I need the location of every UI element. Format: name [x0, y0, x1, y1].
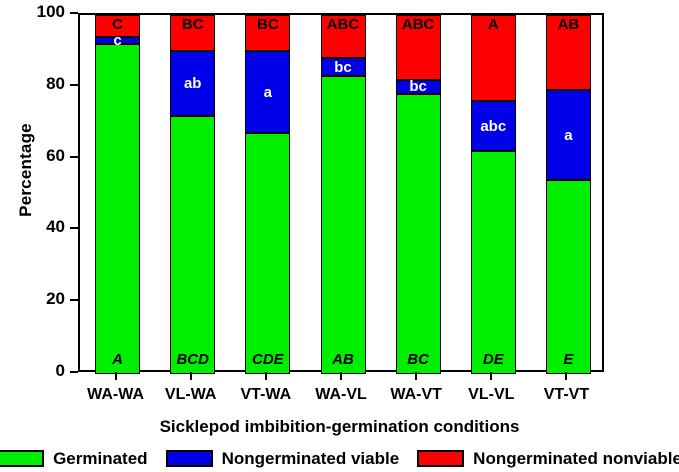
bar-vt-vt[interactable]: EaABAB	[546, 15, 591, 374]
bar-segment-nongerminated-viable[interactable]: ab	[170, 51, 215, 116]
x-tick-mark	[415, 372, 417, 380]
x-tick-mark	[565, 372, 567, 380]
bar-wa-vt[interactable]: BCbcABCABC	[396, 15, 441, 374]
x-tick-label: VT-VT	[518, 386, 614, 404]
segment-letter-label: ab	[184, 76, 202, 91]
bar-segment-nongerminated-viable[interactable]: c	[95, 37, 140, 44]
blue-swatch	[166, 450, 213, 467]
bar-wa-vl[interactable]: ABbcABCABC	[321, 15, 366, 374]
x-tick-mark	[490, 372, 492, 380]
bar-segment-germinated[interactable]: A	[95, 44, 140, 374]
y-tick-label: 0	[5, 361, 65, 381]
bar-segment-germinated[interactable]: BC	[396, 94, 441, 374]
x-tick-mark	[340, 372, 342, 380]
bar-segment-germinated[interactable]: DE	[471, 151, 516, 374]
bar-top-label: BC	[150, 16, 235, 33]
bar-segment-nongerminated-viable[interactable]: a	[546, 90, 591, 180]
segment-letter-label: CDE	[246, 352, 289, 367]
stacked-bar-chart: Percentage 020406080100 AcCCBCDabBCBCCDE…	[0, 0, 679, 472]
bar-top-label: AB	[526, 16, 611, 33]
red-swatch	[417, 450, 464, 467]
y-tick-label: 100	[5, 2, 65, 22]
bar-segment-nongerminated-viable[interactable]: a	[245, 51, 290, 134]
bar-segment-nongerminated-viable[interactable]: bc	[396, 80, 441, 94]
bar-vl-wa[interactable]: BCDabBCBC	[170, 15, 215, 374]
y-tick-mark	[70, 156, 78, 158]
green-swatch	[0, 450, 44, 467]
legend-label: Nongerminated viable	[222, 449, 400, 469]
bar-vt-wa[interactable]: CDEaBCBC	[245, 15, 290, 374]
legend-item-nongerminated-viable[interactable]: Nongerminated viable	[166, 449, 400, 469]
segment-letter-label: DE	[472, 352, 515, 367]
y-tick-label: 80	[5, 74, 65, 94]
bar-segment-germinated[interactable]: E	[546, 180, 591, 374]
bar-top-label: BC	[225, 16, 310, 33]
segment-letter-label: bc	[334, 60, 352, 75]
bar-segment-germinated[interactable]: BCD	[170, 116, 215, 374]
plot-area: AcCCBCDabBCBCCDEaBCBCABbcABCABCBCbcABCAB…	[78, 13, 604, 372]
segment-letter-label: a	[564, 128, 572, 143]
x-tick-mark	[190, 372, 192, 380]
x-tick-mark	[115, 372, 117, 380]
segment-letter-label: E	[547, 352, 590, 367]
legend-item-nongerminated-nonviable[interactable]: Nongerminated nonviable	[417, 449, 679, 469]
bar-segment-nongerminated-viable[interactable]: abc	[471, 101, 516, 151]
bar-segment-germinated[interactable]: AB	[321, 76, 366, 374]
x-tick-mark	[265, 372, 267, 380]
chart-legend: GerminatedNongerminated viableNongermina…	[0, 445, 679, 472]
bar-segment-nongerminated-viable[interactable]: bc	[321, 58, 366, 76]
segment-letter-label: abc	[480, 119, 506, 134]
y-tick-label: 40	[5, 217, 65, 237]
segment-letter-label: BCD	[171, 352, 214, 367]
y-tick-mark	[70, 371, 78, 373]
y-tick-label: 60	[5, 146, 65, 166]
legend-label: Germinated	[53, 449, 147, 469]
bar-top-label: ABC	[301, 16, 386, 33]
legend-label: Nongerminated nonviable	[473, 449, 679, 469]
segment-letter-label: a	[264, 85, 272, 100]
y-tick-label: 20	[5, 289, 65, 309]
legend-item-germinated[interactable]: Germinated	[0, 449, 148, 469]
bar-vl-vl[interactable]: DEabcAA	[471, 15, 516, 374]
segment-letter-label: A	[96, 352, 139, 367]
segment-letter-label: AB	[322, 352, 365, 367]
y-tick-mark	[70, 84, 78, 86]
y-tick-mark	[70, 299, 78, 301]
x-axis-title: Sicklepod imbibition-germination conditi…	[0, 417, 679, 437]
y-tick-mark	[70, 227, 78, 229]
y-tick-mark	[70, 12, 78, 14]
bar-wa-wa[interactable]: AcCC	[95, 15, 140, 374]
bar-top-label: A	[451, 16, 536, 33]
bar-top-label: C	[75, 16, 160, 33]
segment-letter-label: BC	[397, 352, 440, 367]
bar-top-label: ABC	[376, 16, 461, 33]
bar-segment-germinated[interactable]: CDE	[245, 133, 290, 374]
segment-letter-label: bc	[409, 79, 427, 94]
